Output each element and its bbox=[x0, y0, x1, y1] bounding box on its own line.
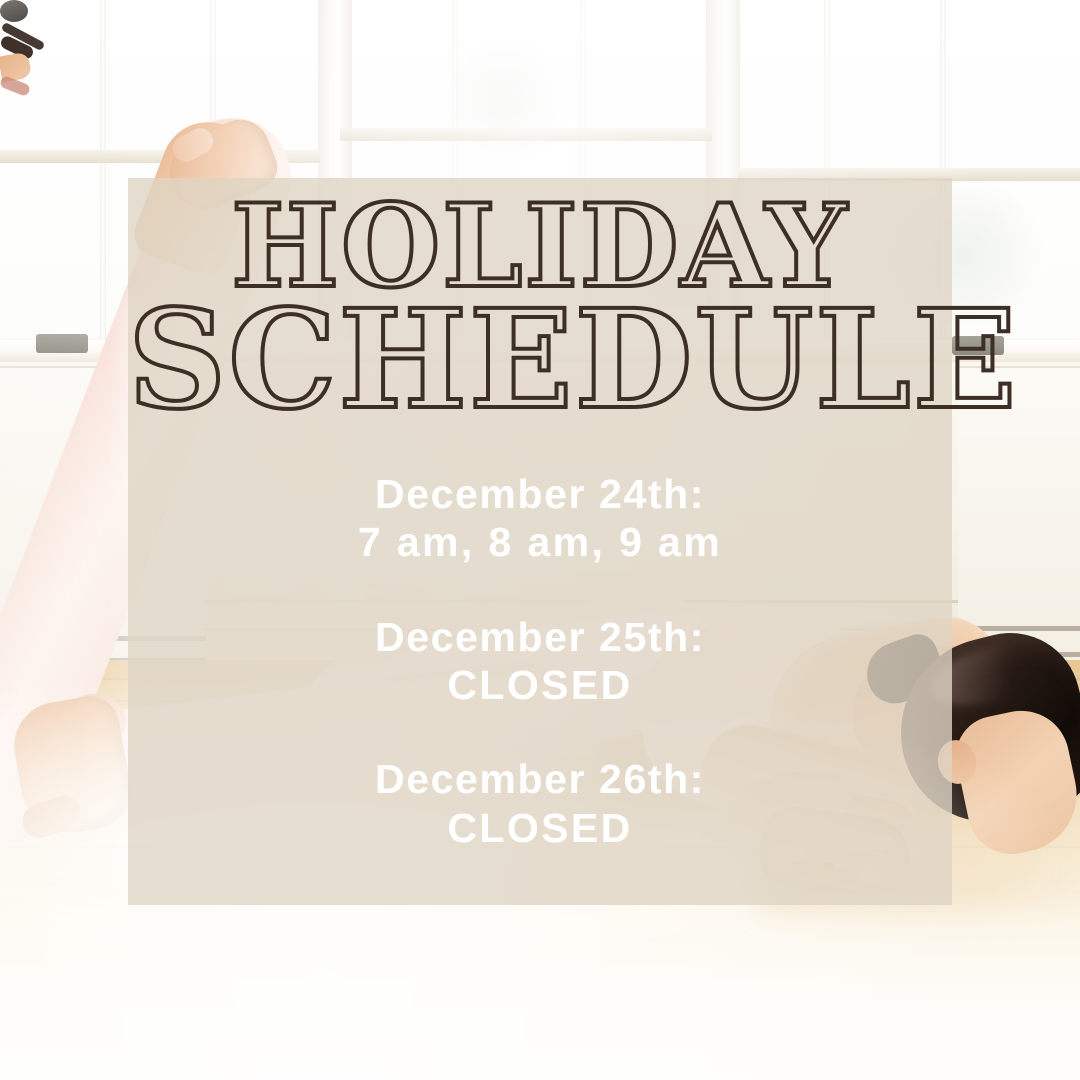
hair-tie bbox=[0, 0, 28, 22]
schedule-entry-dec-26: December 26th: CLOSED bbox=[128, 755, 952, 852]
title-line-schedule: SCHEDULE bbox=[128, 295, 952, 426]
page-title: HOLIDAY SCHEDULE bbox=[128, 192, 952, 426]
holiday-schedule-poster: HOLIDAY SCHEDULE December 24th: 7 am, 8 … bbox=[0, 0, 1080, 1080]
schedule-status: CLOSED bbox=[128, 804, 952, 852]
schedule-status: CLOSED bbox=[128, 661, 952, 709]
schedule-date: December 26th: bbox=[128, 755, 952, 803]
schedule-list: December 24th: 7 am, 8 am, 9 am December… bbox=[128, 470, 952, 852]
schedule-hours: 7 am, 8 am, 9 am bbox=[128, 518, 952, 566]
schedule-entry-dec-24: December 24th: 7 am, 8 am, 9 am bbox=[128, 470, 952, 567]
schedule-entry-dec-25: December 25th: CLOSED bbox=[128, 613, 952, 710]
schedule-date: December 25th: bbox=[128, 613, 952, 661]
content-overlay-panel: HOLIDAY SCHEDULE December 24th: 7 am, 8 … bbox=[128, 178, 952, 905]
schedule-date: December 24th: bbox=[128, 470, 952, 518]
